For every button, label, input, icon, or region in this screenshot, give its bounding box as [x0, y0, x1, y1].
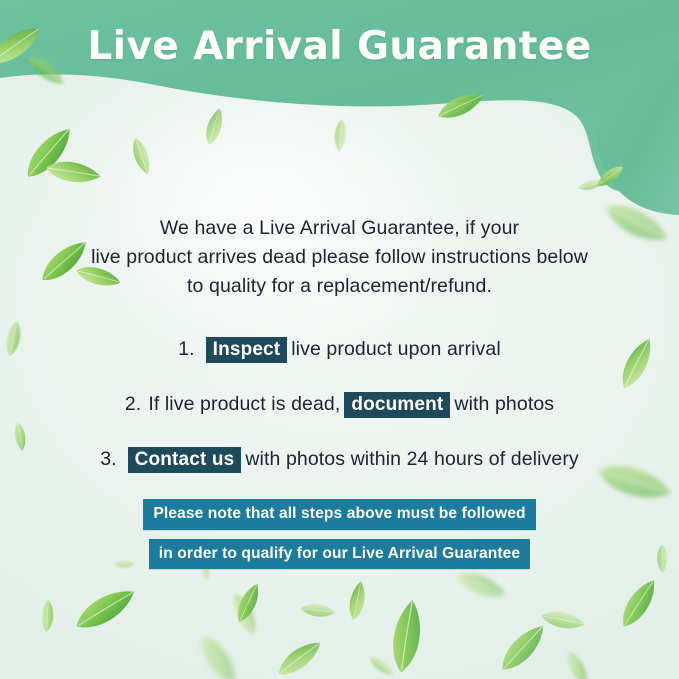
intro-line-1: We have a Live Arrival Guarantee, if you…: [60, 214, 619, 243]
live-arrival-guarantee-poster: Live Arrival Guarantee We have a Live Ar…: [0, 0, 679, 679]
intro-paragraph: We have a Live Arrival Guarantee, if you…: [60, 214, 619, 301]
step-number: 3.: [100, 448, 116, 471]
step-highlight-inspect[interactable]: Inspect: [206, 337, 288, 363]
step-text-after: live product upon arrival: [291, 338, 501, 361]
step-number: 1.: [178, 338, 194, 361]
page-title: Live Arrival Guarantee: [0, 26, 679, 68]
step-highlight-contact-us[interactable]: Contact us: [128, 447, 242, 473]
step-number: 2.: [125, 393, 141, 416]
note-line-1: Please note that all steps above must be…: [143, 499, 535, 530]
step-text-before: If live product is dead,: [148, 393, 340, 416]
step-item-3: 3. Contact us with photos within 24 hour…: [0, 432, 679, 487]
footer-notes: Please note that all steps above must be…: [0, 499, 679, 569]
intro-line-2: live product arrives dead please follow …: [60, 243, 619, 272]
step-highlight-document[interactable]: document: [344, 392, 450, 418]
intro-line-3: to quality for a replacement/refund.: [60, 272, 619, 301]
step-item-1: 1. Inspect live product upon arrival: [0, 322, 679, 377]
poster-content: Live Arrival Guarantee We have a Live Ar…: [0, 0, 679, 679]
steps-list: 1. Inspect live product upon arrival 2. …: [0, 322, 679, 487]
step-text-after: with photos: [454, 393, 554, 416]
note-line-2: in order to qualify for our Live Arrival…: [149, 539, 530, 570]
step-item-2: 2. If live product is dead, document wit…: [0, 377, 679, 432]
step-text-after: with photos within 24 hours of delivery: [245, 448, 578, 471]
